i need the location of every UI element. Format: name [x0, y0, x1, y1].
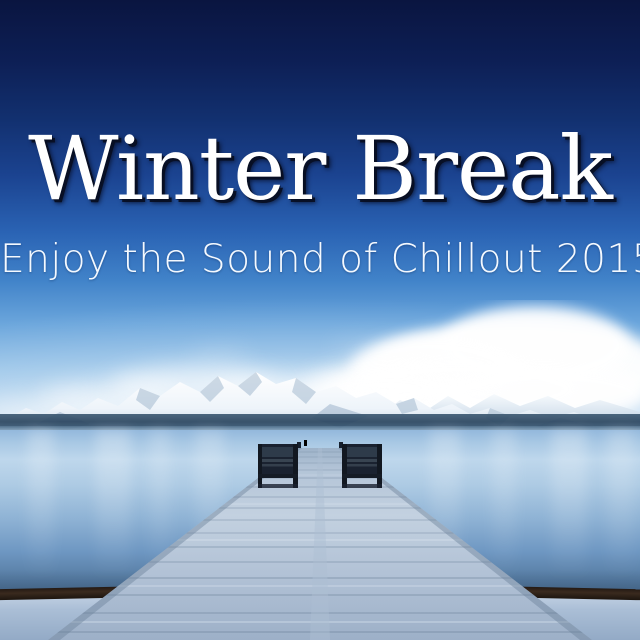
page-title: Winter Break: [0, 125, 640, 213]
pier: [0, 440, 640, 640]
album-cover-artwork: Winter Break Enjoy the Sound of Chillout…: [0, 0, 640, 640]
shoreline-treeline: [0, 414, 640, 431]
page-subtitle: Enjoy the Sound of Chillout 2015: [0, 240, 640, 279]
pier-perspective-icon: [0, 440, 640, 640]
